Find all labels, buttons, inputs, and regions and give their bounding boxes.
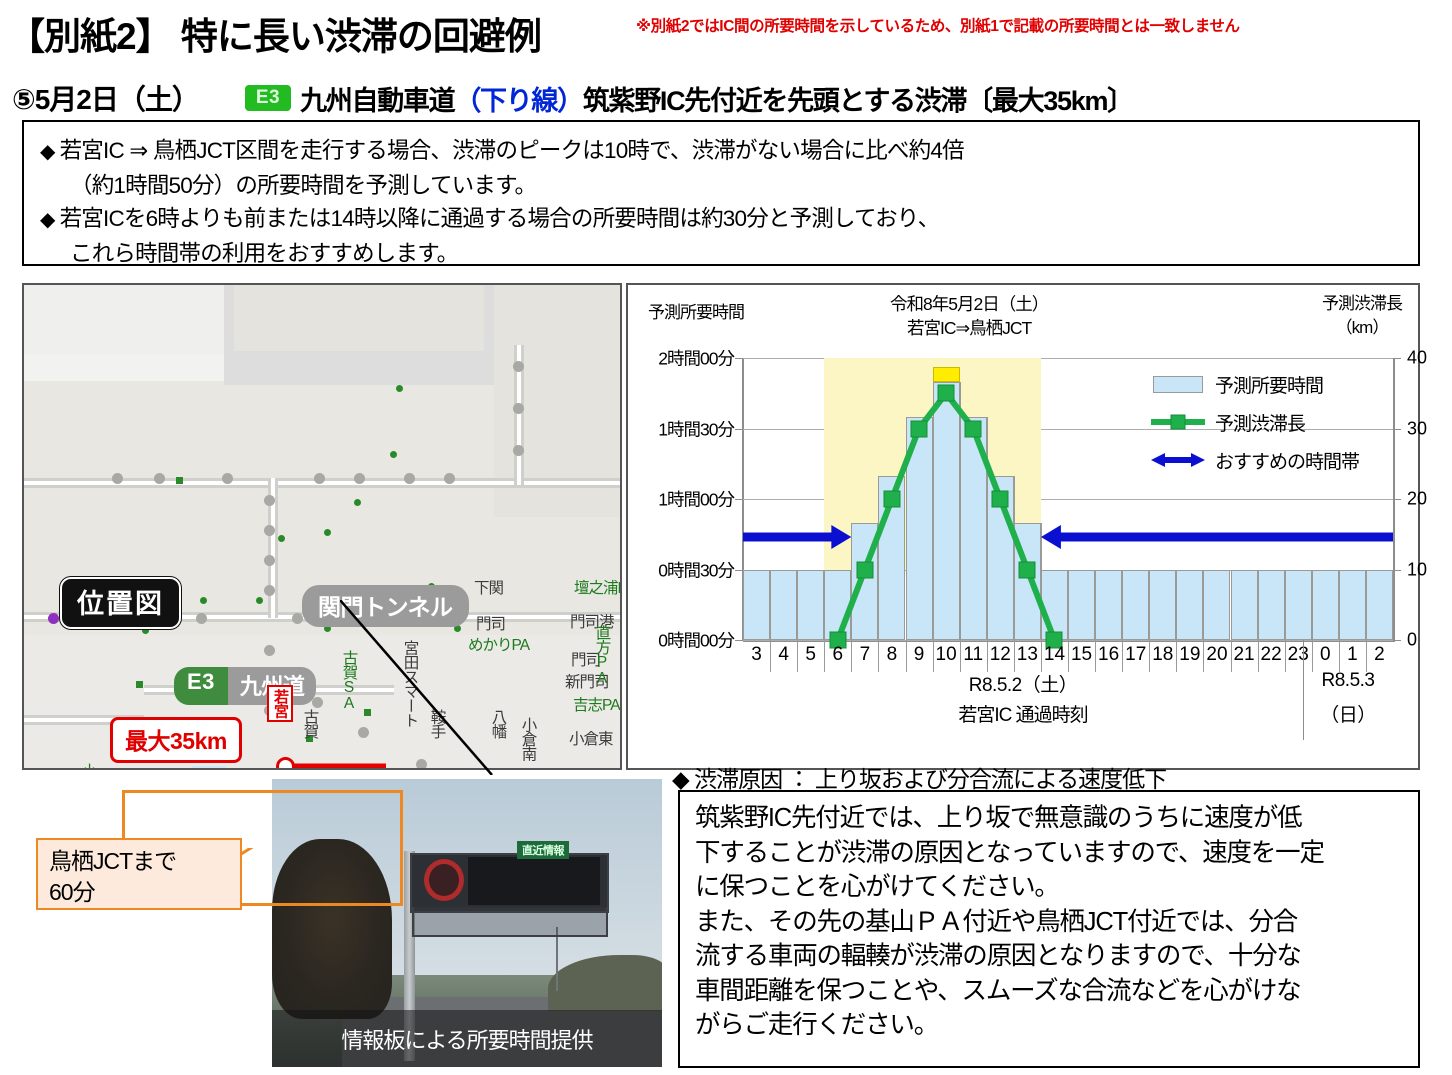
x-tick-label: 0	[1320, 644, 1331, 666]
x-tick-mark	[960, 640, 961, 672]
map-pa-dot	[278, 535, 285, 542]
photo-sign-indicator	[424, 859, 464, 901]
x-tick-mark	[878, 640, 879, 672]
map-label: 小城PAスマート	[80, 763, 96, 770]
x-tick-label: 7	[860, 644, 871, 666]
y-tick-label: 0時間30分	[658, 557, 734, 582]
x-tick-label: 9	[914, 644, 925, 666]
x-tick-label: 23	[1288, 644, 1309, 666]
summary-text: 若宮ICを6時よりも前または14時以降に通過する場合の所要時間は約30分と予測し…	[60, 206, 940, 231]
x-tick-label: 22	[1261, 644, 1282, 666]
summary-line: ◆若宮ICを6時よりも前または14時以降に通過する場合の所要時間は約30分と予測…	[40, 202, 1418, 237]
cause-line: 筑紫野IC先付近では、上り坂で無意識のうちに速度が低	[695, 801, 1418, 836]
double-arrow-icon	[1148, 453, 1208, 467]
subtitle-row: ⑤5月2日（土） E3 九州自動車道（下り線）筑紫野IC先付近を先頭とする渋滞〔…	[12, 78, 1133, 118]
x-tick-mark	[851, 640, 852, 672]
subtitle-main-b: 筑紫野IC先付近を先頭とする渋滞〔最大35km〕	[583, 86, 1133, 116]
x-tick-mark	[1285, 640, 1286, 672]
route-badge-e3: E3	[245, 85, 291, 112]
x-tick-mark	[987, 640, 988, 672]
x-tick-mark	[797, 640, 798, 672]
title-note: ※別紙2ではIC間の所要時間を示しているため、別紙1で記載の所要時間とは一致しま…	[636, 14, 1240, 36]
x-tick-label: 11	[963, 644, 983, 666]
data-point-marker	[992, 491, 1009, 508]
subtitle-main-direction: （下り線）	[454, 86, 583, 116]
summary-box: ◆若宮IC ⇒ 鳥栖JCT区間を走行する場合、渋滞のピークは10時で、渋滞がない…	[22, 120, 1420, 266]
summary-line: （約1時間50分）の所要時間を予測しています。	[40, 169, 1418, 202]
cause-heading: ◆ 渋滞原因 ： 上り坂および分合流による速度低下	[672, 760, 1166, 794]
line-swatch-icon	[1148, 419, 1208, 425]
y2-tick-label: 20	[1407, 489, 1427, 510]
callout-line1: 鳥栖JCTまで	[49, 846, 240, 877]
route-chip-badge: E3	[174, 667, 228, 705]
diamond-icon: ◆	[40, 141, 60, 163]
page-title: 【別紙2】 特に長い渋滞の回避例	[8, 6, 541, 60]
x-tick-label: 12	[990, 644, 1011, 666]
x-tick-label: 15	[1071, 644, 1092, 666]
travel-time-callout: 鳥栖JCTまで 60分	[36, 838, 242, 910]
y2-tick-mark	[1393, 358, 1401, 359]
chart-title-line2: 若宮IC⇒鳥栖JCT	[890, 316, 1048, 340]
x-tick-label: 16	[1098, 644, 1119, 666]
cause-box: 筑紫野IC先付近では、上り坂で無意識のうちに速度が低 下することが渋滞の原因とな…	[678, 790, 1420, 1068]
x-tick-mark	[1014, 640, 1015, 672]
x-tick-mark	[1095, 640, 1096, 672]
cause-line: 流する車両の輻輳が渋滞の原因となりますので、十分な	[695, 939, 1418, 974]
map-node	[513, 445, 524, 456]
map-marker-wakamiya-ic	[276, 757, 295, 770]
x-tick-label: 17	[1125, 644, 1146, 666]
x-tick-mark	[1041, 640, 1042, 672]
map-node	[404, 473, 415, 484]
callout-line2: 60分	[49, 877, 240, 908]
chart-title-line1: 令和8年5月2日（土）	[890, 292, 1048, 316]
x-tick-mark	[1203, 640, 1204, 672]
map-pa-dot	[324, 529, 331, 536]
callout-connector-line	[238, 848, 328, 910]
y2-tick-label: 30	[1407, 418, 1427, 439]
x-tick-label: 2	[1374, 644, 1385, 666]
y-tick-label: 1時間30分	[658, 416, 734, 441]
map-label: 壇之浦PA	[574, 579, 620, 599]
x-tick-label: 6	[832, 644, 843, 666]
cause-line: また、その先の基山ＰＡ付近や鳥栖JCT付近では、分合	[695, 905, 1418, 940]
y2-tick-mark	[1393, 570, 1401, 571]
cause-line: 下することが渋滞の原因となっていますので、速度を一定	[695, 836, 1418, 871]
map-node-taku	[48, 613, 59, 624]
photo-sign-caption-strip: 直近情報	[517, 841, 569, 859]
map-node	[154, 473, 165, 484]
map-sa-square	[176, 477, 183, 484]
x-tick-label: 10	[936, 644, 957, 666]
y2-tick-label: 10	[1407, 559, 1427, 580]
data-point-marker	[911, 420, 928, 437]
subtitle-date: ⑤5月2日（土）	[12, 78, 199, 118]
chart-right-axis-title-line1: 予測渋滞長	[1322, 292, 1402, 316]
photo-leader-line	[340, 600, 540, 775]
subtitle-main: 九州自動車道（下り線）筑紫野IC先付近を先頭とする渋滞〔最大35km〕	[300, 79, 1133, 118]
map-node	[264, 555, 275, 566]
x-tick-label: 18	[1152, 644, 1173, 666]
map-node	[444, 473, 455, 484]
chart-legend: 予測所要時間 予測渋滞長 おすすめの時間帯	[1148, 365, 1398, 479]
chart-right-axis-title-line2: （km）	[1322, 316, 1402, 340]
y2-tick-label: 0	[1407, 630, 1417, 651]
x-tick-mark	[1149, 640, 1150, 672]
x-tick-mark	[1231, 640, 1232, 672]
map-label: 古賀	[302, 709, 318, 738]
chart-right-axis-title: 予測渋滞長 （km）	[1322, 292, 1402, 340]
map-node	[264, 495, 275, 506]
map-pa-dot	[390, 451, 397, 458]
cause-line: に保つことを心がけてください。	[695, 870, 1418, 905]
data-point-marker	[965, 420, 982, 437]
legend-label: おすすめの時間帯	[1208, 447, 1359, 474]
chart-left-axis-title: 予測所要時間	[648, 298, 744, 323]
chart-x-footer-date2: R8.5.3	[1303, 670, 1393, 692]
map-sea	[24, 285, 224, 355]
map-label: 直方PA	[594, 625, 610, 686]
x-tick-label: 8	[887, 644, 898, 666]
map-node	[513, 403, 524, 414]
map-ic-label-wakamiya: 若宮	[267, 685, 293, 722]
x-tick-label: 1	[1347, 644, 1358, 666]
map-node	[312, 697, 323, 708]
map-node	[354, 473, 365, 484]
cause-line: がらご走行ください。	[695, 1008, 1418, 1043]
x-tick-label: 14	[1044, 644, 1065, 666]
legend-item: 予測所要時間	[1148, 365, 1398, 403]
map-node	[314, 473, 325, 484]
summary-text: （約1時間50分）の所要時間を予測しています。	[70, 173, 536, 198]
y-tick-mark	[735, 499, 743, 500]
photo-sign-cage	[412, 907, 608, 937]
map-pa-dot	[354, 499, 361, 506]
y-tick-label: 1時間00分	[658, 487, 734, 512]
legend-item: 予測渋滞長	[1148, 403, 1398, 441]
data-point-marker	[856, 561, 873, 578]
x-tick-mark	[1312, 640, 1313, 672]
x-tick-label: 19	[1179, 644, 1200, 666]
y-tick-label: 0時間00分	[658, 628, 734, 653]
map-node	[264, 585, 275, 596]
legend-label: 予測渋滞長	[1208, 409, 1305, 436]
chart-x-footer-date: R8.5.2（土）	[743, 670, 1303, 697]
chart-x-footer-sub2: （日）	[1303, 700, 1393, 727]
summary-line: ◆若宮IC ⇒ 鳥栖JCT区間を走行する場合、渋滞のピークは10時で、渋滞がない…	[40, 134, 1418, 169]
map-sa-square	[136, 681, 143, 688]
map-max-length-chip: 最大35km	[110, 717, 242, 763]
x-tick-mark	[770, 640, 771, 672]
map-node	[513, 361, 524, 372]
map-label: 小倉東	[569, 732, 613, 748]
map-label: 下関	[474, 581, 503, 597]
x-tick-label: 13	[1017, 644, 1038, 666]
x-tick-mark	[1258, 640, 1259, 672]
map-pa-dot	[396, 385, 403, 392]
map-label: 吉志PA	[573, 698, 620, 714]
map-landmass	[234, 285, 484, 351]
map-node	[292, 613, 303, 624]
data-point-marker	[883, 491, 900, 508]
summary-text: これら時間帯の利用をおすすめします。	[70, 241, 458, 266]
x-tick-mark	[1339, 640, 1340, 672]
diamond-icon: ◆	[40, 209, 60, 231]
map-node	[112, 473, 123, 484]
summary-line: これら時間帯の利用をおすすめします。	[40, 237, 1418, 270]
chart-title: 令和8年5月2日（土） 若宮IC⇒鳥栖JCT	[890, 292, 1048, 340]
y2-tick-mark	[1393, 499, 1401, 500]
x-tick-label: 3	[751, 644, 762, 666]
legend-item: おすすめの時間帯	[1148, 441, 1398, 479]
summary-text: 若宮IC ⇒ 鳥栖JCT区間を走行する場合、渋滞のピークは10時で、渋滞がない場…	[60, 138, 964, 163]
y-tick-mark	[735, 570, 743, 571]
x-tick-mark	[1176, 640, 1177, 672]
y2-tick-mark	[1393, 640, 1401, 641]
y-tick-label: 2時間00分	[658, 346, 734, 371]
photo-sign-screen	[468, 857, 600, 905]
x-tick-label: 4	[778, 644, 789, 666]
y-tick-mark	[735, 358, 743, 359]
airplane-icon: ✈	[192, 766, 226, 770]
map-pa-dot	[256, 597, 263, 604]
x-tick-mark	[1068, 640, 1069, 672]
cause-line: 車間距離を保つことや、スムーズな合流などを心がけな	[695, 974, 1418, 1009]
subtitle-main-a: 九州自動車道	[300, 86, 454, 116]
x-tick-mark	[1122, 640, 1123, 672]
x-tick-mark	[906, 640, 907, 672]
y-tick-mark	[735, 429, 743, 430]
data-point-marker	[1019, 561, 1036, 578]
chart-x-footer-sub: 若宮IC 通過時刻	[743, 700, 1303, 727]
x-tick-label: 20	[1206, 644, 1227, 666]
map-node	[264, 525, 275, 536]
legend-label: 予測所要時間	[1208, 371, 1323, 398]
x-tick-mark	[824, 640, 825, 672]
y2-tick-label: 40	[1407, 348, 1427, 369]
map-node	[196, 613, 207, 624]
x-tick-mark	[1366, 640, 1367, 672]
photo-caption: 情報板による所要時間提供	[272, 1023, 662, 1055]
map-route-chip-e3: E3 九州道	[174, 667, 316, 705]
x-tick-label: 21	[1233, 644, 1254, 666]
map-location-chip: 位置図	[60, 577, 181, 629]
x-tick-mark	[933, 640, 934, 672]
map-node	[222, 473, 233, 484]
bar-swatch-icon	[1148, 376, 1208, 393]
y-tick-mark	[735, 640, 743, 641]
data-point-marker	[938, 385, 955, 402]
map-node	[264, 645, 275, 656]
map-pa-dot	[200, 597, 207, 604]
x-tick-label: 5	[805, 644, 816, 666]
